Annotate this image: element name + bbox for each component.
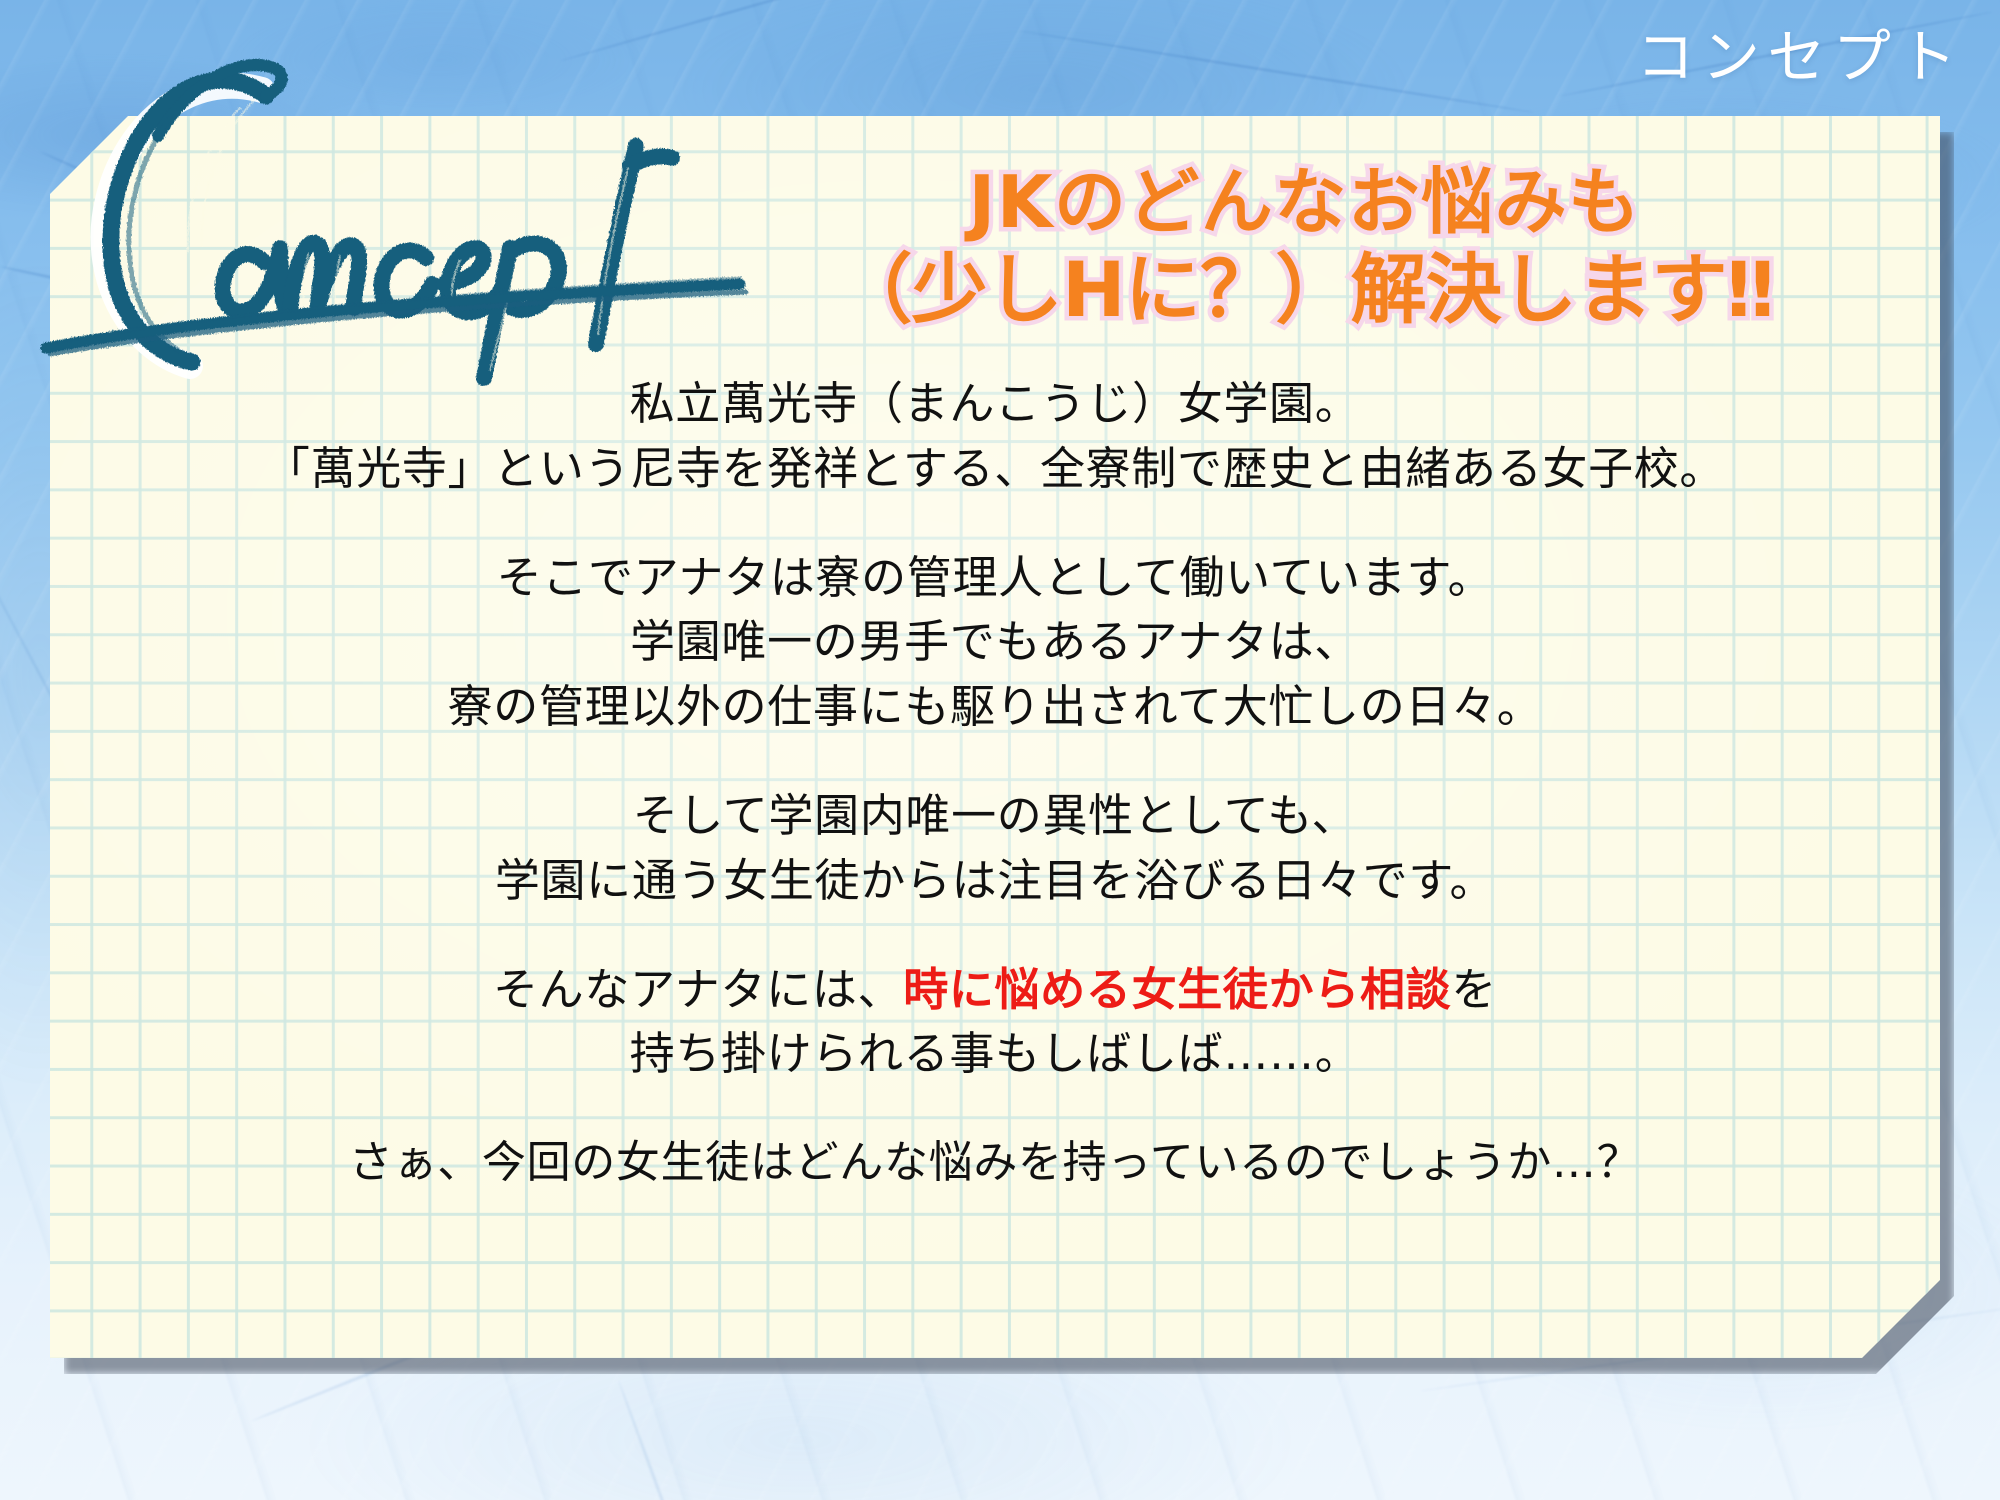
headline-line-1: JKのどんなお悩みも	[640, 160, 1970, 245]
paragraph-gap-2	[100, 740, 1890, 784]
slide-corner-label: コンセプト	[1636, 26, 1964, 90]
body-paragraph-1-line-2: 「萬光寺」という尼寺を発祥とする、全寮制で歴史と由緒ある女子校。	[100, 437, 1890, 502]
body-paragraph-3-line-2: 学園に通う女生徒からは注目を浴びる日々です。	[100, 849, 1890, 914]
body-paragraph-2-line-1: そこでアナタは寮の管理人として働いています。	[100, 546, 1890, 611]
body-paragraph-2-line-2: 学園唯一の男手でもあるアナタは、	[100, 610, 1890, 675]
body-paragraph-4-line-1: そんなアナタには、時に悩める女生徒から相談を	[100, 958, 1890, 1023]
body-p4-prefix: そんなアナタには、	[493, 963, 903, 1016]
body-p4-suffix: を	[1451, 963, 1497, 1016]
background-vein-4	[1020, 30, 1534, 113]
paragraph-gap-4	[100, 1087, 1890, 1131]
slide-root: コンセプト	[0, 0, 2000, 1500]
body-paragraph-3-line-1: そして学園内唯一の異性としても、	[100, 784, 1890, 849]
body-paragraph-4-line-2: 持ち掛けられる事もしばしば……。	[100, 1022, 1890, 1087]
headline-line-2: （少しHに？）解決します‼	[640, 245, 1970, 335]
body-paragraph-5-line-1: さぁ、今回の女生徒はどんな悩みを持っているのでしょうか…？	[100, 1131, 1890, 1194]
body-p4-highlight: 時に悩める女生徒から相談	[903, 963, 1451, 1016]
paragraph-gap-1	[100, 502, 1890, 546]
headline-block: JKのどんなお悩みも （少しHに？）解決します‼	[640, 160, 1970, 335]
body-paragraph-2-line-3: 寮の管理以外の仕事にも駆り出されて大忙しの日々。	[100, 675, 1890, 740]
body-copy-block: 私立萬光寺（まんこうじ）女学園。 「萬光寺」という尼寺を発祥とする、全寮制で歴史…	[100, 372, 1890, 1195]
background-vein-3	[560, 0, 964, 62]
background-vein-8	[617, 1380, 750, 1500]
body-paragraph-1-line-1: 私立萬光寺（まんこうじ）女学園。	[100, 372, 1890, 437]
paragraph-gap-3	[100, 914, 1890, 958]
